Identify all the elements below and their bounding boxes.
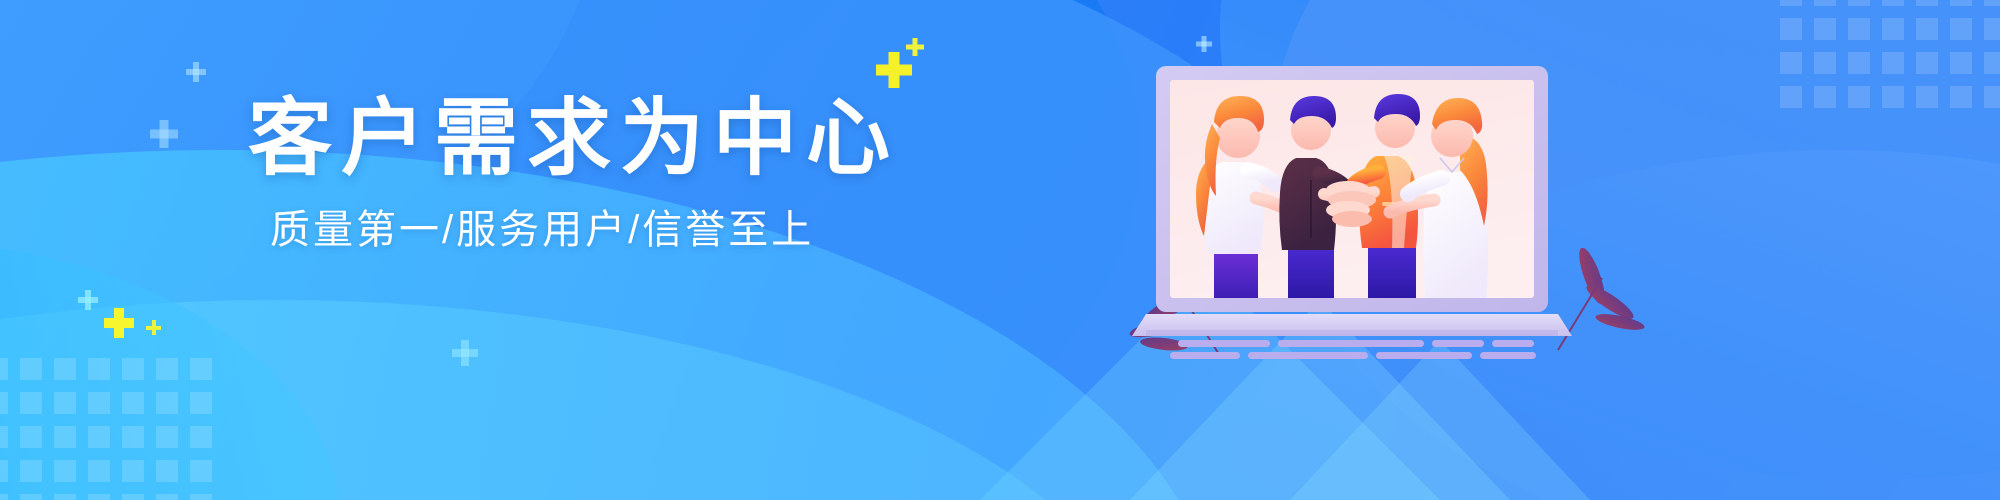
grid-cell bbox=[1984, 86, 2000, 108]
banner-copy: 客户需求为中心 质量第一/服务用户/信誉至上 bbox=[248, 96, 899, 252]
grid-cell bbox=[88, 494, 110, 500]
grid-cell bbox=[20, 426, 42, 448]
plus-icon-cyan-left bbox=[150, 120, 178, 148]
grid-cell bbox=[1882, 0, 1904, 6]
grid-cell bbox=[190, 494, 212, 500]
grid-cell bbox=[88, 460, 110, 482]
grid-cell bbox=[1814, 86, 1836, 108]
grid-cell bbox=[88, 358, 110, 380]
grid-cell bbox=[54, 392, 76, 414]
grid-pattern-top-right bbox=[1780, 0, 2000, 108]
grid-cell bbox=[122, 460, 144, 482]
grid-cell bbox=[0, 426, 8, 448]
grid-cell bbox=[1814, 18, 1836, 40]
grid-cell bbox=[20, 460, 42, 482]
laptop-illustration bbox=[1152, 62, 1552, 362]
grid-cell bbox=[1984, 52, 2000, 74]
promo-banner: 客户需求为中心 质量第一/服务用户/信誉至上 bbox=[0, 0, 2000, 500]
grid-cell bbox=[1814, 52, 1836, 74]
grid-cell bbox=[1916, 52, 1938, 74]
grid-cell bbox=[1848, 0, 1870, 6]
plus-icon-yellow-bottom-small bbox=[146, 320, 161, 335]
grid-cell bbox=[1984, 18, 2000, 40]
grid-cell bbox=[122, 358, 144, 380]
grid-cell bbox=[0, 494, 8, 500]
grid-cell bbox=[122, 494, 144, 500]
plus-icon-cyan-bottom bbox=[78, 290, 98, 310]
grid-cell bbox=[54, 426, 76, 448]
grid-cell bbox=[1950, 0, 1972, 6]
banner-subheadline: 质量第一/服务用户/信誉至上 bbox=[270, 208, 899, 252]
grid-cell bbox=[0, 460, 8, 482]
grid-cell bbox=[1916, 18, 1938, 40]
grid-cell bbox=[1814, 0, 1836, 6]
grid-cell bbox=[1780, 0, 1802, 6]
plus-icon-yellow-large bbox=[876, 52, 912, 88]
banner-headline: 客户需求为中心 bbox=[248, 96, 899, 180]
grid-cell bbox=[156, 392, 178, 414]
grid-cell bbox=[1848, 18, 1870, 40]
plus-icon-yellow-bottom bbox=[104, 308, 134, 338]
grid-cell bbox=[54, 358, 76, 380]
grid-cell bbox=[1950, 52, 1972, 74]
plus-icon-yellow-small bbox=[906, 38, 924, 56]
plus-icon-cyan-center bbox=[452, 340, 478, 366]
grid-cell bbox=[1916, 0, 1938, 6]
grid-cell bbox=[54, 460, 76, 482]
grid-cell bbox=[0, 392, 8, 414]
grid-cell bbox=[1950, 86, 1972, 108]
grid-cell bbox=[156, 426, 178, 448]
grid-cell bbox=[1848, 86, 1870, 108]
grid-cell bbox=[1916, 86, 1938, 108]
grid-cell bbox=[1780, 18, 1802, 40]
grid-cell bbox=[190, 358, 212, 380]
grid-cell bbox=[54, 494, 76, 500]
grid-cell bbox=[156, 460, 178, 482]
grid-cell bbox=[156, 358, 178, 380]
grid-cell bbox=[88, 426, 110, 448]
grid-cell bbox=[1882, 52, 1904, 74]
grid-cell bbox=[88, 392, 110, 414]
plus-icon-cyan-top-left bbox=[186, 62, 206, 82]
grid-cell bbox=[20, 392, 42, 414]
grid-cell bbox=[190, 392, 212, 414]
grid-cell bbox=[1950, 18, 1972, 40]
grid-cell bbox=[1984, 0, 2000, 6]
wave-left-streak bbox=[0, 240, 340, 500]
grid-cell bbox=[1780, 86, 1802, 108]
grid-pattern-bottom-left bbox=[0, 358, 212, 500]
grid-cell bbox=[1882, 18, 1904, 40]
grid-cell bbox=[1882, 86, 1904, 108]
grid-cell bbox=[0, 358, 8, 380]
plus-icon-cyan-right bbox=[1196, 36, 1212, 52]
grid-cell bbox=[122, 426, 144, 448]
grid-cell bbox=[190, 426, 212, 448]
grid-cell bbox=[190, 460, 212, 482]
grid-cell bbox=[1780, 52, 1802, 74]
hands-stack bbox=[1326, 181, 1376, 227]
leaf-sprig-icon-right bbox=[1540, 248, 1650, 358]
grid-cell bbox=[156, 494, 178, 500]
grid-cell bbox=[1848, 52, 1870, 74]
grid-cell bbox=[20, 358, 42, 380]
grid-cell bbox=[122, 392, 144, 414]
grid-cell bbox=[20, 494, 42, 500]
mountain-silhouette-3 bbox=[1290, 340, 1590, 500]
wave-bottom-glow bbox=[0, 300, 1150, 500]
laptop-keyboard bbox=[1170, 340, 1536, 359]
